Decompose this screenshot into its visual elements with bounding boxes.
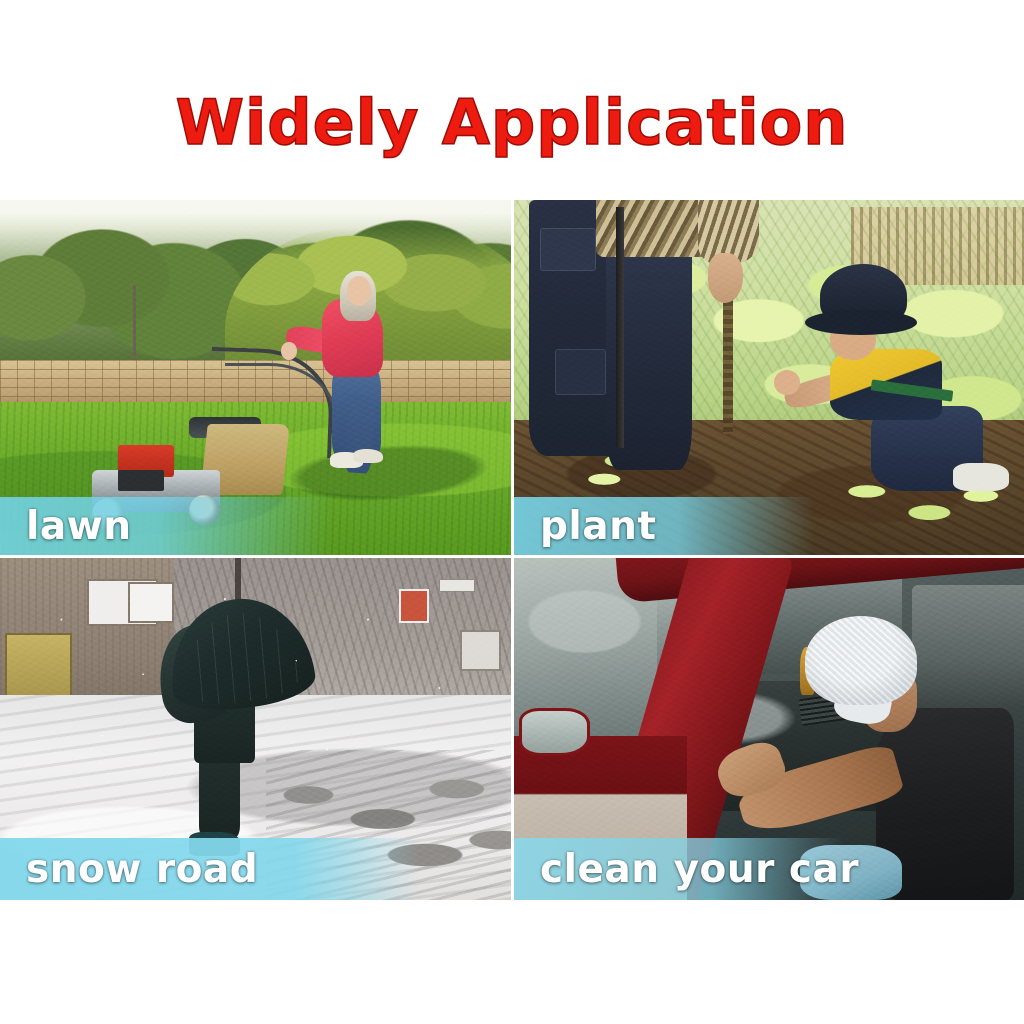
adult-pocket-leg xyxy=(555,349,606,395)
caption-label: lawn xyxy=(26,507,131,546)
caption-plant: plant xyxy=(514,497,657,555)
caption-lawn: lawn xyxy=(0,497,131,555)
panel-lawn[interactable]: lawn xyxy=(0,200,511,555)
rear-interior xyxy=(912,585,1024,708)
plant-stalk xyxy=(723,292,733,434)
panel-snow-road[interactable]: snow road xyxy=(0,558,511,900)
caption-snow-road: snow road xyxy=(0,838,258,900)
application-panel-grid: lawn xyxy=(0,200,1024,900)
panel-clean-your-car[interactable]: clean your car xyxy=(514,558,1024,900)
panel-plant[interactable]: plant xyxy=(514,200,1024,555)
woman-shoe-right xyxy=(353,449,384,464)
poster-header: Widely Application xyxy=(0,0,1024,200)
worker-hair-net xyxy=(805,616,917,705)
caption-label: snow road xyxy=(26,850,258,889)
side-mirror xyxy=(519,708,590,756)
garden-post xyxy=(133,285,137,370)
caption-label: plant xyxy=(540,507,657,546)
child-shoe xyxy=(953,463,1009,491)
garden-tool-handle xyxy=(616,207,624,448)
adult-pocket-top xyxy=(540,228,596,271)
child-hat-brim xyxy=(805,310,917,335)
page-title: Widely Application xyxy=(176,42,849,159)
child-hand xyxy=(774,370,800,395)
woman-hand xyxy=(281,342,297,360)
mower-engine-base xyxy=(118,470,164,491)
caption-clean-your-car: clean your car xyxy=(514,838,859,900)
caption-label: clean your car xyxy=(540,850,859,889)
widely-application-poster: { "poster": { "title": "Widely Applicati… xyxy=(0,0,1024,1024)
